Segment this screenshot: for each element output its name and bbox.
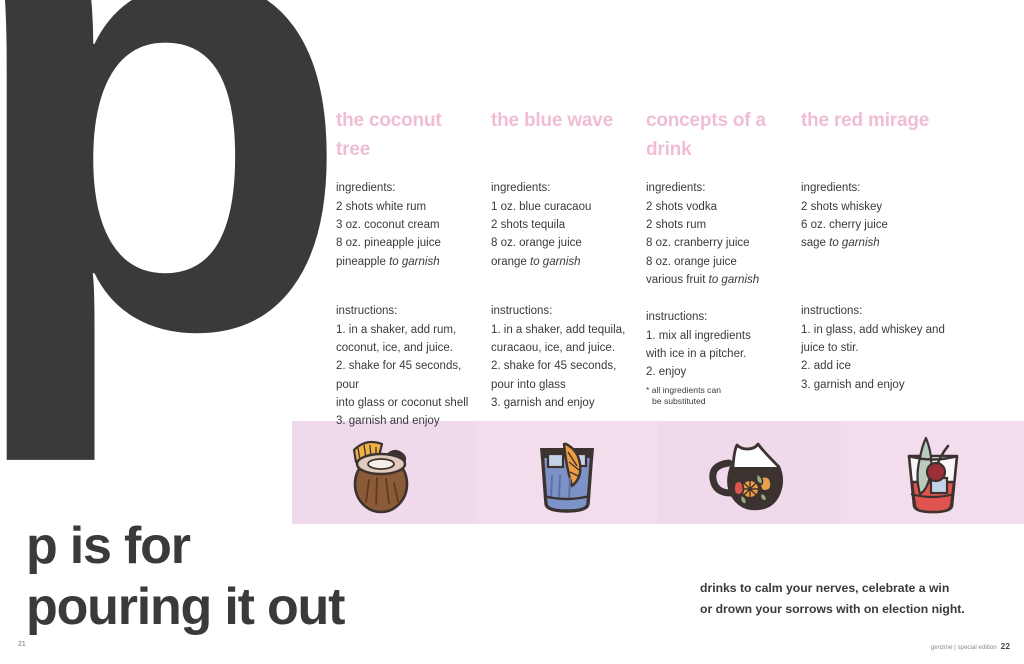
- instructions-label: instructions:: [646, 308, 787, 326]
- ingredient-item: 6 oz. cherry juice: [801, 216, 979, 234]
- garnish-suffix: to garnish: [709, 274, 760, 286]
- headline-line-2: pouring it out: [26, 577, 344, 638]
- ingredient-item: 8 oz. orange juice: [491, 234, 632, 252]
- recipe-title: the blue wave: [491, 107, 632, 165]
- instruction-line: 1. mix all ingredients: [646, 327, 787, 345]
- instruction-line: 2. enjoy: [646, 363, 787, 381]
- instruction-line: into glass or coconut shell: [336, 394, 477, 412]
- recipe-card-red-mirage: the red mirage ingredients: 2 shots whis…: [801, 107, 979, 430]
- garnish-suffix: to garnish: [829, 237, 880, 249]
- ingredient-item: 2 shots white rum: [336, 198, 477, 216]
- instruction-line: curacaou, ice, and juice.: [491, 339, 632, 357]
- garnish-name: orange: [491, 256, 527, 268]
- illustration-band: [292, 421, 1024, 524]
- ingredient-item: 2 shots whiskey: [801, 198, 979, 216]
- illustration-cell-coconut: [292, 421, 475, 524]
- illustration-cell-red-cocktail: [841, 421, 1024, 524]
- instruction-line: 1. in glass, add whiskey and: [801, 321, 979, 339]
- recipe-card-blue-wave: the blue wave ingredients: 1 oz. blue cu…: [491, 107, 646, 430]
- instruction-line: 2. shake for 45 seconds,: [491, 357, 632, 375]
- ingredient-item: 1 oz. blue curacaou: [491, 198, 632, 216]
- garnish-suffix: to garnish: [530, 256, 581, 268]
- folio-publication-label: genzine | special edition: [931, 644, 997, 651]
- sangria-pitcher-icon: [705, 429, 795, 517]
- instructions-block: instructions: 1. in a shaker, add tequil…: [491, 302, 632, 412]
- illustration-cell-blue-cocktail: [475, 421, 658, 524]
- instruction-line: coconut, ice, and juice.: [336, 339, 477, 357]
- instruction-line: 2. shake for 45 seconds, pour: [336, 357, 477, 393]
- instruction-line: 1. in a shaker, add rum,: [336, 321, 477, 339]
- footnote-line-1: * all ingredients can: [646, 385, 721, 395]
- ingredient-item: 2 shots vodka: [646, 198, 787, 216]
- page-title: p is for pouring it out: [26, 516, 344, 638]
- garnish-suffix: to garnish: [389, 256, 440, 268]
- deck-line-2: or drown your sorrows with on election n…: [700, 599, 1020, 620]
- ingredients-label: ingredients:: [646, 179, 787, 197]
- ingredients-block: ingredients: 2 shots whiskey 6 oz. cherr…: [801, 179, 979, 283]
- recipe-title: the red mirage: [801, 107, 979, 165]
- instruction-line: with ice in a pitcher.: [646, 345, 787, 363]
- substitution-footnote: * all ingredients can be substituted: [646, 385, 787, 408]
- instruction-line: juice to stir.: [801, 339, 979, 357]
- instructions-block: instructions: 1. in a shaker, add rum, c…: [336, 302, 477, 430]
- deck-line-1: drinks to calm your nerves, celebrate a …: [700, 578, 1020, 599]
- instructions-label: instructions:: [491, 302, 632, 320]
- instructions-block: instructions: 1. mix all ingredients wit…: [646, 308, 787, 408]
- garnish-name: sage: [801, 237, 826, 249]
- ingredients-label: ingredients:: [801, 179, 979, 197]
- recipe-card-coconut-tree: the coconut tree ingredients: 2 shots wh…: [336, 107, 491, 430]
- illustration-cell-sangria-pitcher: [658, 421, 841, 524]
- instruction-line: 1. in a shaker, add tequila,: [491, 321, 632, 339]
- recipe-title: concepts of a drink: [646, 107, 787, 165]
- headline-line-1: p is for: [26, 516, 344, 577]
- instruction-line: 3. garnish and enjoy: [336, 412, 477, 430]
- ingredient-item: 2 shots rum: [646, 216, 787, 234]
- ingredients-label: ingredients:: [491, 179, 632, 197]
- coconut-drink-icon: [336, 428, 432, 518]
- garnish-item: pineapple to garnish: [336, 253, 477, 271]
- garnish-item: orange to garnish: [491, 253, 632, 271]
- garnish-name: various fruit: [646, 274, 705, 286]
- folio-right-page-number: 22: [1001, 641, 1010, 651]
- instruction-line: pour into glass: [491, 376, 632, 394]
- ingredient-item: 8 oz. cranberry juice: [646, 234, 787, 252]
- instruction-line: 3. garnish and enjoy: [491, 394, 632, 412]
- garnish-name: pineapple: [336, 256, 386, 268]
- ingredients-block: ingredients: 2 shots white rum 3 oz. coc…: [336, 179, 477, 283]
- ingredients-label: ingredients:: [336, 179, 477, 197]
- instructions-label: instructions:: [336, 302, 477, 320]
- recipe-card-concepts-of-a-drink: concepts of a drink ingredients: 2 shots…: [646, 107, 801, 430]
- footnote-line-2: be substituted: [646, 396, 787, 408]
- instruction-line: 2. add ice: [801, 357, 979, 375]
- recipe-columns: the coconut tree ingredients: 2 shots wh…: [336, 107, 1024, 430]
- instructions-label: instructions:: [801, 302, 979, 320]
- blue-cocktail-icon: [528, 430, 606, 516]
- garnish-item: sage to garnish: [801, 234, 979, 252]
- ingredients-block: ingredients: 1 oz. blue curacaou 2 shots…: [491, 179, 632, 283]
- instructions-block: instructions: 1. in glass, add whiskey a…: [801, 302, 979, 394]
- page-deck: drinks to calm your nerves, celebrate a …: [700, 578, 1020, 621]
- folio-left-page-number: 21: [18, 641, 26, 648]
- ingredient-item: 2 shots tequila: [491, 216, 632, 234]
- instruction-line: 3. garnish and enjoy: [801, 376, 979, 394]
- ingredient-item: 3 oz. coconut cream: [336, 216, 477, 234]
- red-cocktail-icon: [892, 430, 974, 516]
- ingredient-item: 8 oz. orange juice: [646, 253, 787, 271]
- ingredients-block: ingredients: 2 shots vodka 2 shots rum 8…: [646, 179, 787, 289]
- folio-right: genzine | special edition 22: [931, 641, 1010, 651]
- garnish-item: various fruit to garnish: [646, 271, 787, 289]
- recipe-title: the coconut tree: [336, 107, 477, 165]
- ingredient-item: 8 oz. pineapple juice: [336, 234, 477, 252]
- decorative-letter-p: p: [0, 0, 340, 426]
